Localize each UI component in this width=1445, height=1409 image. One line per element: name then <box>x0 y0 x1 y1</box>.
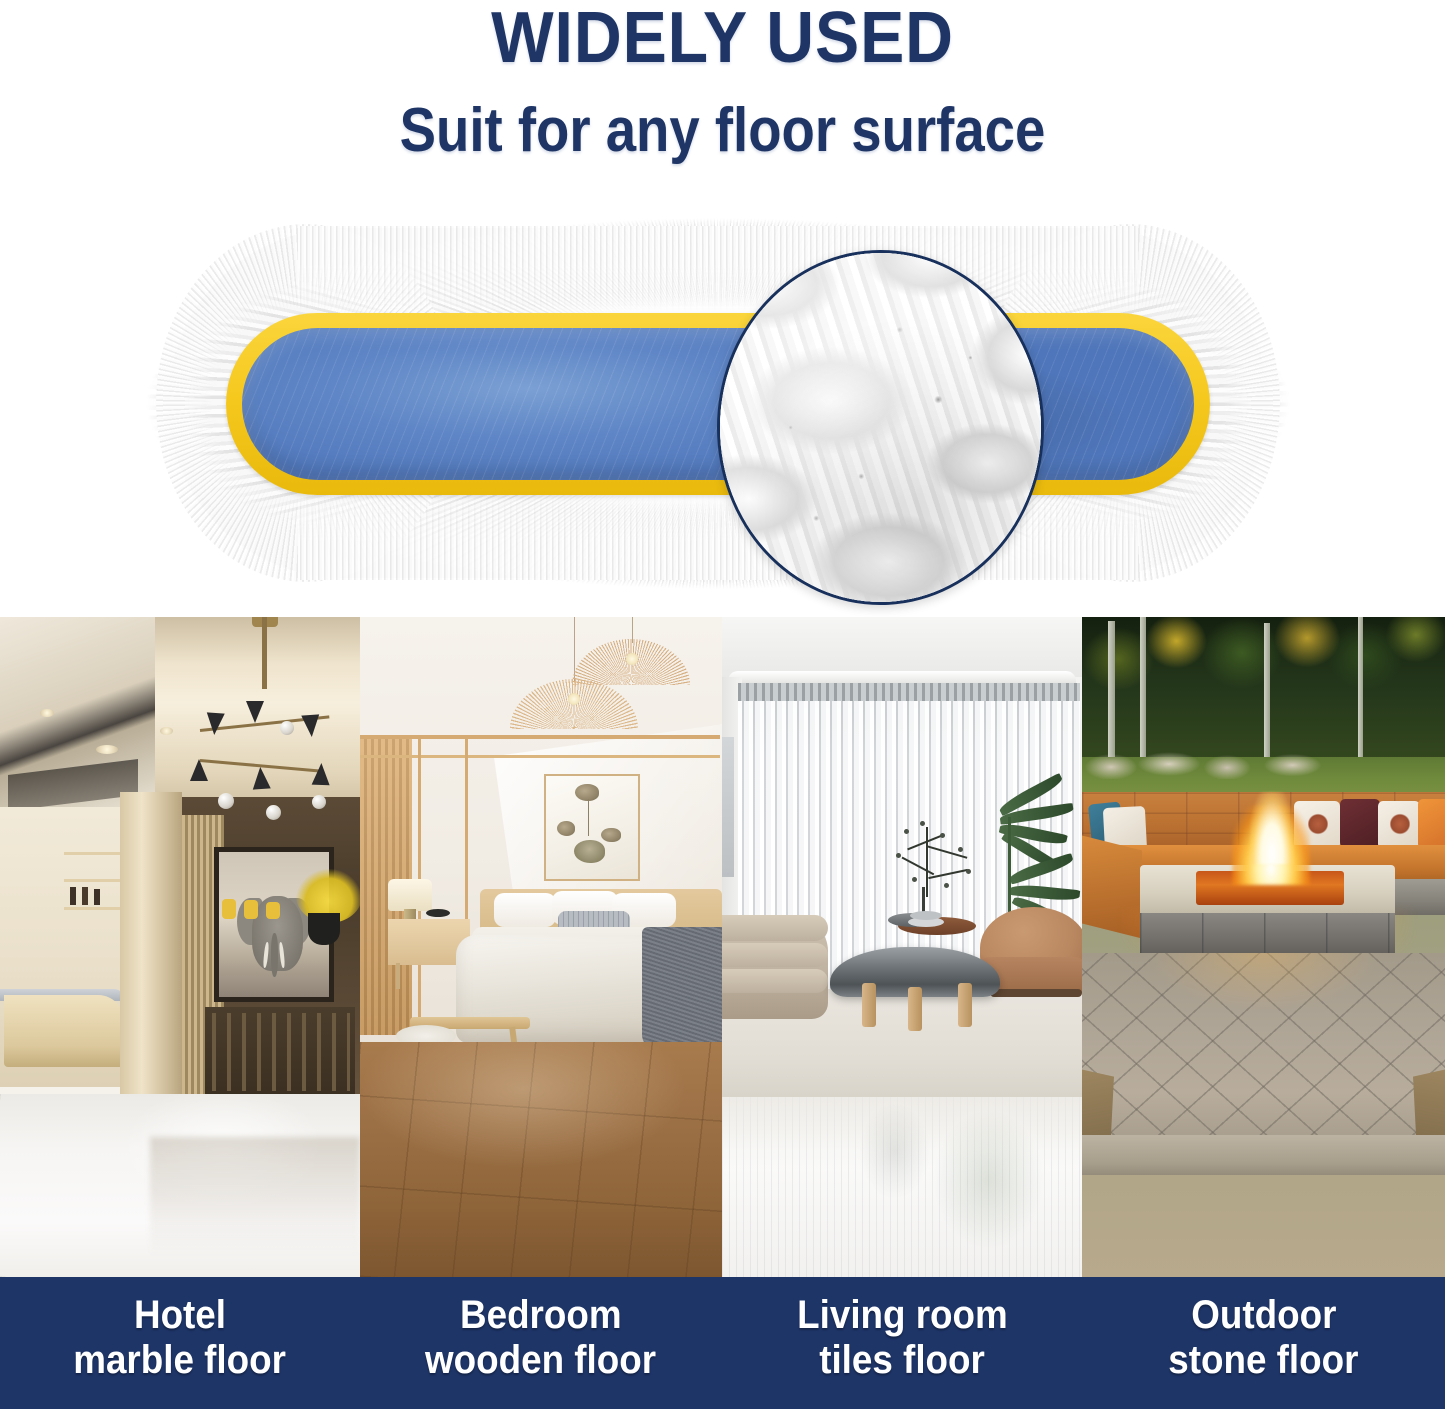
outdoor-boulders <box>1082 749 1445 779</box>
hotel-marble-pillar <box>120 792 182 1122</box>
caption-line-2: wooden floor <box>425 1338 656 1383</box>
zoom-circle-icon <box>717 250 1044 605</box>
bonsai-bud <box>944 883 949 888</box>
chandelier-bulb <box>280 721 294 735</box>
caption-line-1: Outdoor <box>1191 1293 1336 1338</box>
dust-mop-head-image <box>168 228 1268 578</box>
bonsai-branch <box>926 827 928 897</box>
artwork-leaf <box>557 821 575 835</box>
caption-line-1: Hotel <box>134 1293 226 1338</box>
hotel-floor-reflection <box>150 1137 360 1277</box>
bonsai-bud <box>958 847 963 852</box>
outdoor-pillow-maroon <box>1340 799 1380 847</box>
sofa-cushion-roll <box>722 915 828 941</box>
bedroom-botanical-artwork <box>544 774 640 881</box>
hotel-shelf <box>64 879 122 882</box>
coffee-table-leg <box>862 983 876 1027</box>
stacked-plates <box>910 911 942 920</box>
nightstand-bowl <box>426 909 450 917</box>
hotel-downlight <box>40 709 54 717</box>
caption-living-room: Living room tiles floor <box>722 1277 1082 1409</box>
yarn-shading <box>720 253 1041 602</box>
patio-firelight <box>1082 953 1445 1153</box>
caption-line-1: Living room <box>797 1293 1008 1338</box>
coffee-table-leg <box>958 983 972 1027</box>
living-room-ceiling <box>722 617 1082 677</box>
caption-bar: Hotel marble floor Bedroom wooden floor … <box>0 1277 1445 1409</box>
hotel-bottle <box>82 887 88 905</box>
sofa-cushion-roll <box>722 969 828 993</box>
bonsai-bud <box>896 853 901 858</box>
chandelier-rod <box>262 617 267 689</box>
chandelier-bulb <box>218 793 234 809</box>
artwork-leaf <box>574 840 605 863</box>
hero-product-section <box>0 200 1445 617</box>
hotel-reception-counter <box>4 995 124 1067</box>
coffee-table-leg <box>908 987 922 1031</box>
tree-trunk <box>1264 623 1270 761</box>
hotel-shelf <box>64 852 122 855</box>
bonsai-branch <box>928 869 967 879</box>
hotel-gold-figurine <box>244 900 258 919</box>
page-subtitle: Suit for any floor surface <box>87 100 1359 162</box>
bonsai-bud <box>966 869 971 874</box>
bed-gray-throw <box>642 927 722 1049</box>
firepit-flame-core <box>1250 792 1294 864</box>
lounge-chair-base <box>990 989 1082 997</box>
photo-panel-living-room[interactable] <box>722 617 1082 1277</box>
bonsai-bud <box>940 833 945 838</box>
caption-line-2: marble floor <box>74 1338 287 1383</box>
header-banner: WIDELY USED Suit for any floor surface <box>0 0 1445 200</box>
hotel-vase <box>308 913 340 945</box>
tree-trunk <box>1358 617 1363 761</box>
caption-outdoor: Outdoor stone floor <box>1082 1277 1445 1409</box>
pendant-bulb <box>568 693 580 705</box>
hotel-shelf <box>64 907 122 910</box>
photo-panel-bedroom[interactable] <box>360 617 722 1277</box>
bonsai-bud <box>912 877 917 882</box>
caption-line-2: tiles floor <box>819 1338 985 1383</box>
hotel-downlight <box>96 745 118 754</box>
caption-hotel: Hotel marble floor <box>0 1277 360 1409</box>
tree-trunk <box>1108 621 1115 761</box>
nightstand-leg <box>396 963 400 989</box>
bonsai-bud <box>920 821 925 826</box>
outdoor-pillow-motif <box>1308 813 1328 835</box>
curtain-track <box>738 683 1080 701</box>
bedroom-wall-trim <box>360 755 720 758</box>
tree-trunk <box>1140 617 1146 763</box>
outdoor-cobblestone-floor <box>1082 1169 1445 1277</box>
hotel-downlight <box>160 727 173 735</box>
scene-photo-grid <box>0 617 1445 1277</box>
bonsai-branch <box>902 857 934 875</box>
artwork-stem <box>588 799 589 836</box>
bonsai-tree <box>882 807 982 897</box>
chandelier-shade <box>205 712 224 735</box>
hotel-bottle <box>94 889 100 905</box>
caption-line-2: stone floor <box>1168 1338 1358 1383</box>
floor-reflection-glow <box>722 1097 1082 1277</box>
bedside-lamp-shade <box>388 879 432 911</box>
bedroom-floor-sheen <box>360 1042 722 1277</box>
photo-panel-outdoor[interactable] <box>1082 617 1445 1277</box>
bed-pillow <box>494 893 556 927</box>
bedroom-wall-trim <box>360 735 720 739</box>
hotel-gold-figurine <box>266 902 280 919</box>
sofa-cushion-roll <box>722 943 828 967</box>
elephant-trunk <box>271 933 279 977</box>
chandelier-bulb <box>312 795 326 809</box>
chandelier-bulb <box>266 805 281 820</box>
chandelier-shade <box>246 701 264 723</box>
outdoor-pillow-orange <box>1418 799 1445 849</box>
photo-panel-hotel[interactable] <box>0 617 360 1277</box>
hotel-gold-figurine <box>222 899 236 919</box>
pendant-bulb <box>626 653 638 665</box>
chandelier-shade <box>190 759 208 781</box>
outdoor-pillow-motif <box>1390 813 1410 835</box>
hotel-console-bars <box>212 1013 350 1091</box>
living-room-door-edge <box>722 737 734 877</box>
chandelier-shade <box>312 763 331 786</box>
bonsai-bud <box>904 829 909 834</box>
chandelier-shade <box>301 714 320 737</box>
artwork-leaf <box>601 828 621 842</box>
caption-bedroom: Bedroom wooden floor <box>360 1277 722 1409</box>
caption-line-1: Bedroom <box>460 1293 622 1338</box>
chandelier-shade <box>251 766 270 789</box>
page-title: WIDELY USED <box>58 2 1387 74</box>
hotel-bottle <box>70 887 76 905</box>
